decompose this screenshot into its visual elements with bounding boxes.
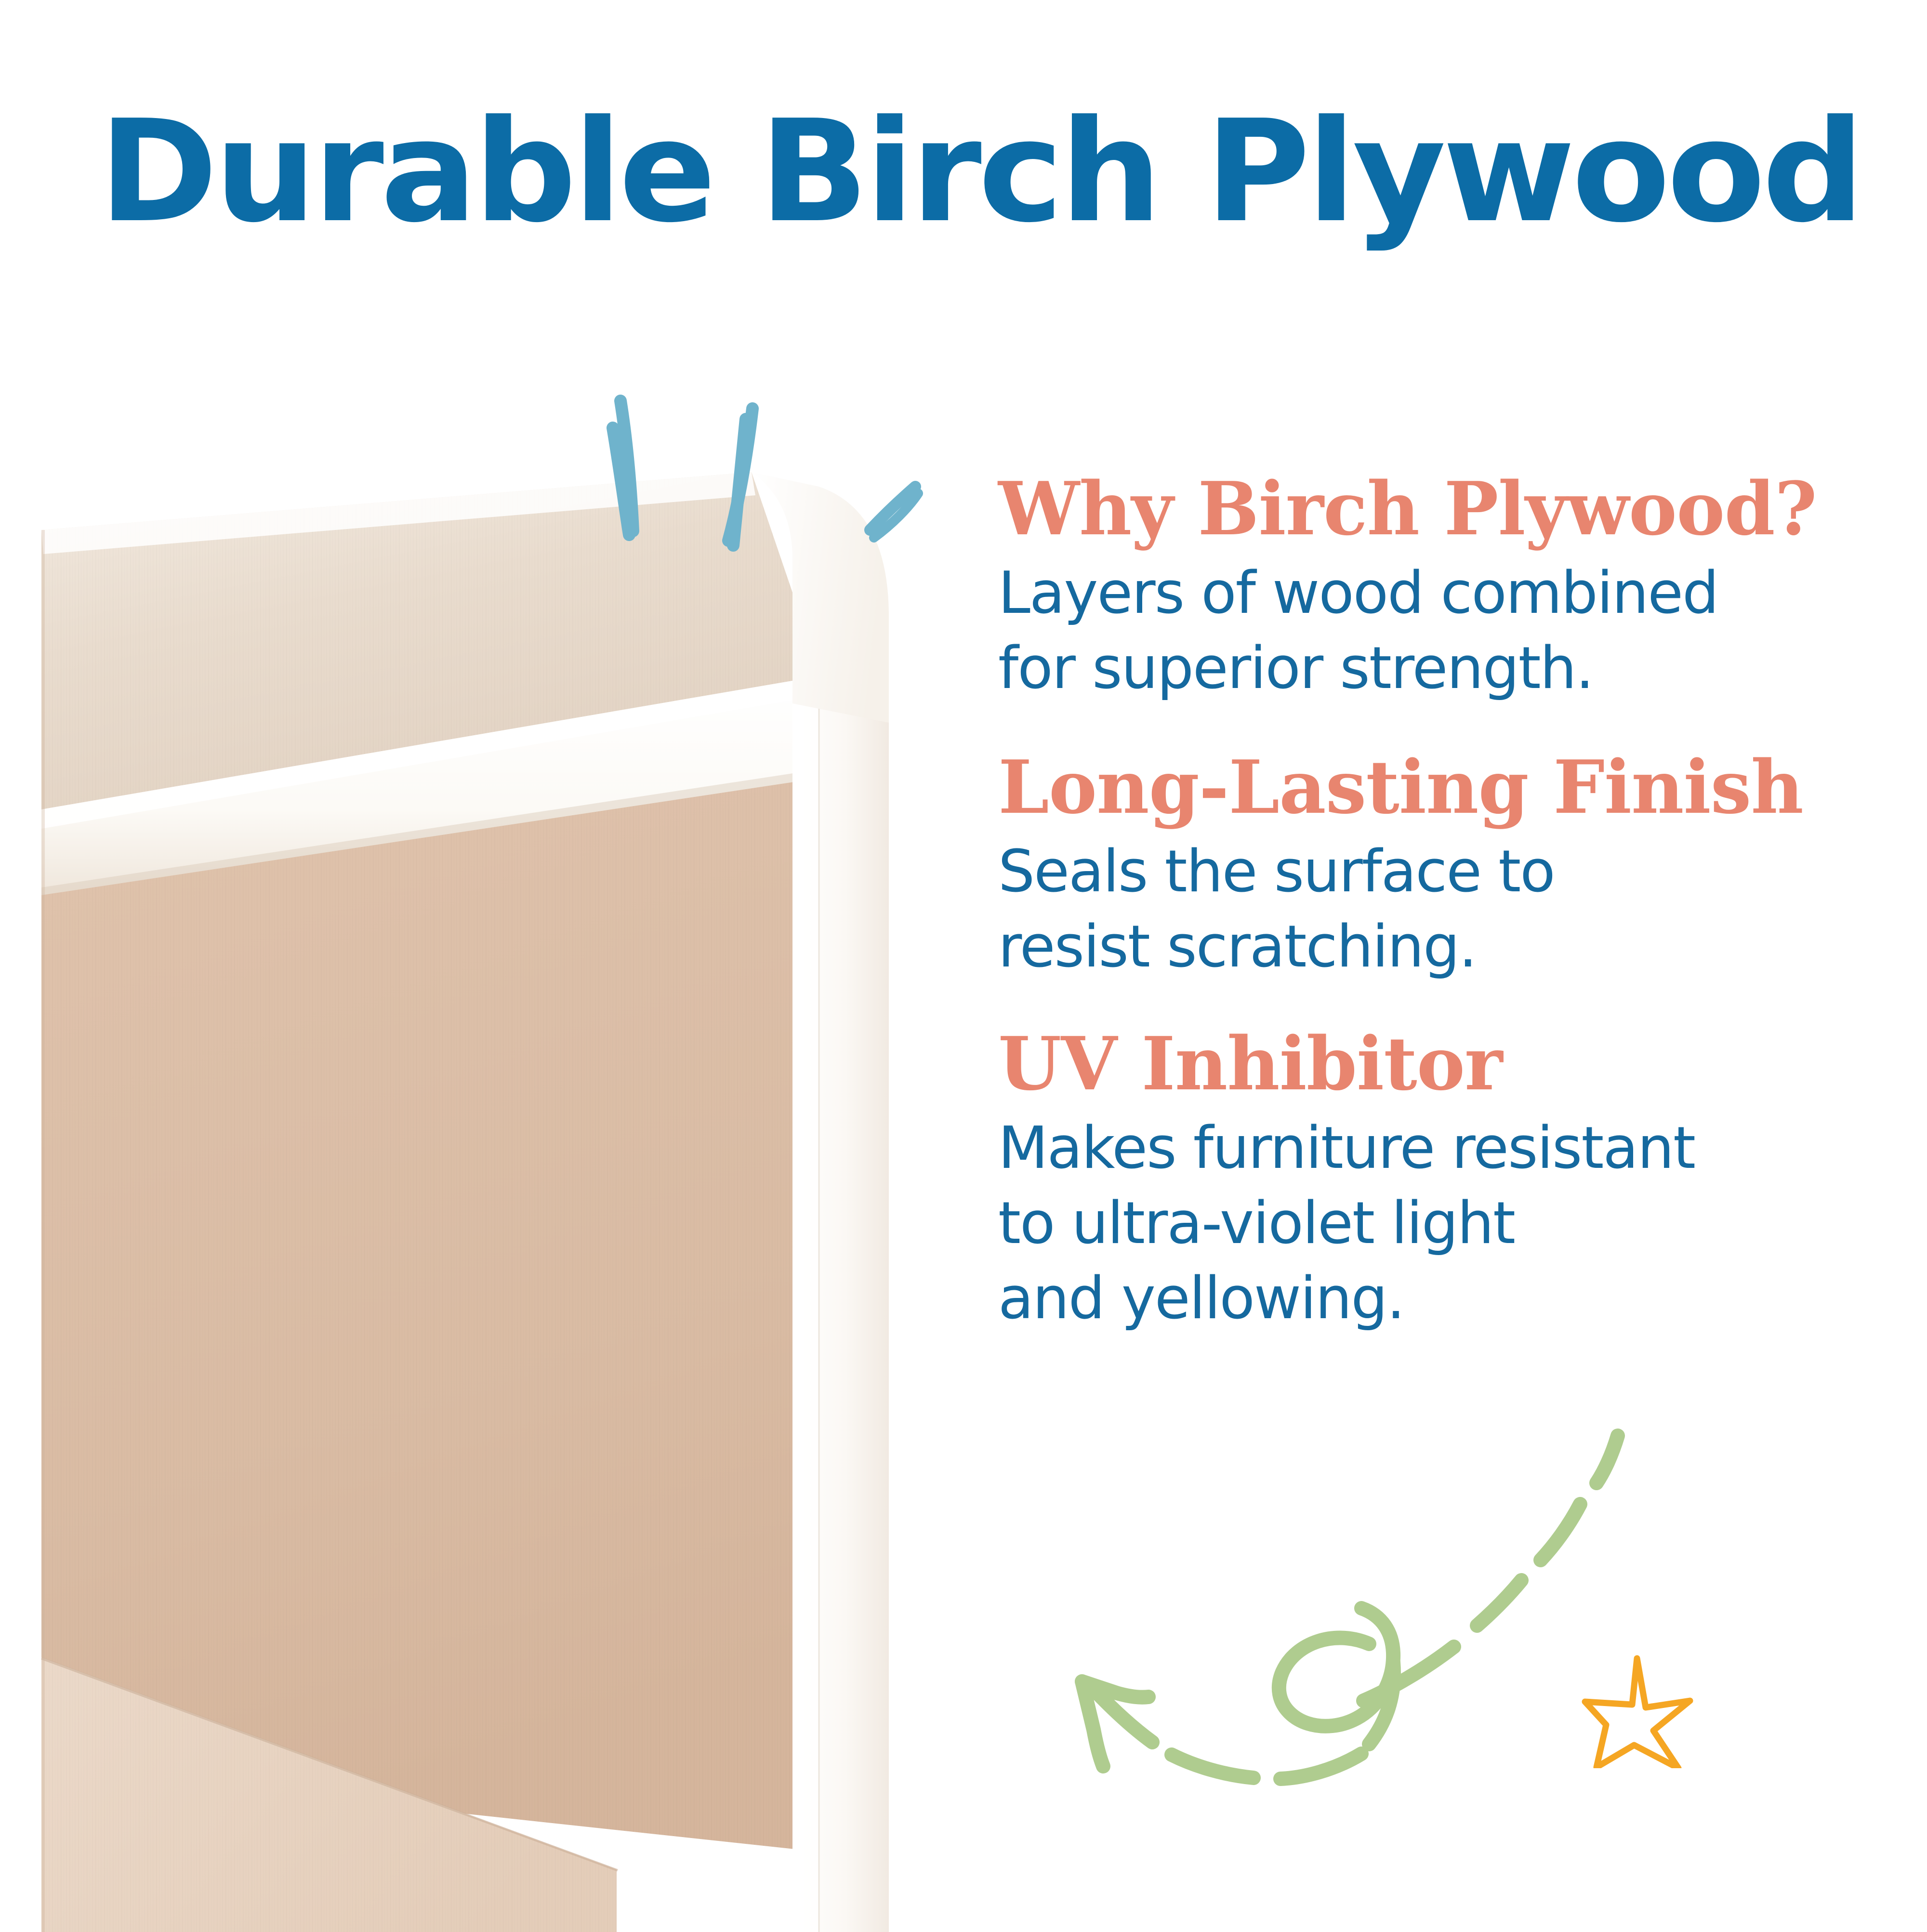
curly-arrow-left-icon xyxy=(1036,1421,1672,1855)
star-outline-icon xyxy=(1580,1648,1696,1768)
feature-description: Makes furniture resistant to ultra-viole… xyxy=(998,1111,1865,1337)
page-title: Durable Birch Plywood xyxy=(99,101,1917,242)
product-photo xyxy=(0,472,896,1932)
feature-block: Long-Lasting Finish Seals the surface to… xyxy=(998,751,1865,985)
star-decoration xyxy=(1580,1648,1696,1768)
feature-block: UV Inhibitor Makes furniture resistant t… xyxy=(998,1027,1865,1337)
feature-description: Seals the surface to resist scratching. xyxy=(998,834,1865,985)
feature-block: Why Birch Plywood? Layers of wood combin… xyxy=(998,472,1865,706)
feature-heading: Why Birch Plywood? xyxy=(998,472,1857,545)
feature-description: Layers of wood combined for superior str… xyxy=(998,556,1865,706)
infographic-canvas: Durable Birch Plywood xyxy=(0,0,1927,1927)
feature-list: Why Birch Plywood? Layers of wood combin… xyxy=(998,472,1865,1337)
feature-heading: UV Inhibitor xyxy=(998,1027,1857,1100)
birch-plywood-cabinet-illustration xyxy=(0,472,896,1932)
arrow-decoration xyxy=(1036,1421,1672,1855)
feature-heading: Long-Lasting Finish xyxy=(998,751,1857,824)
